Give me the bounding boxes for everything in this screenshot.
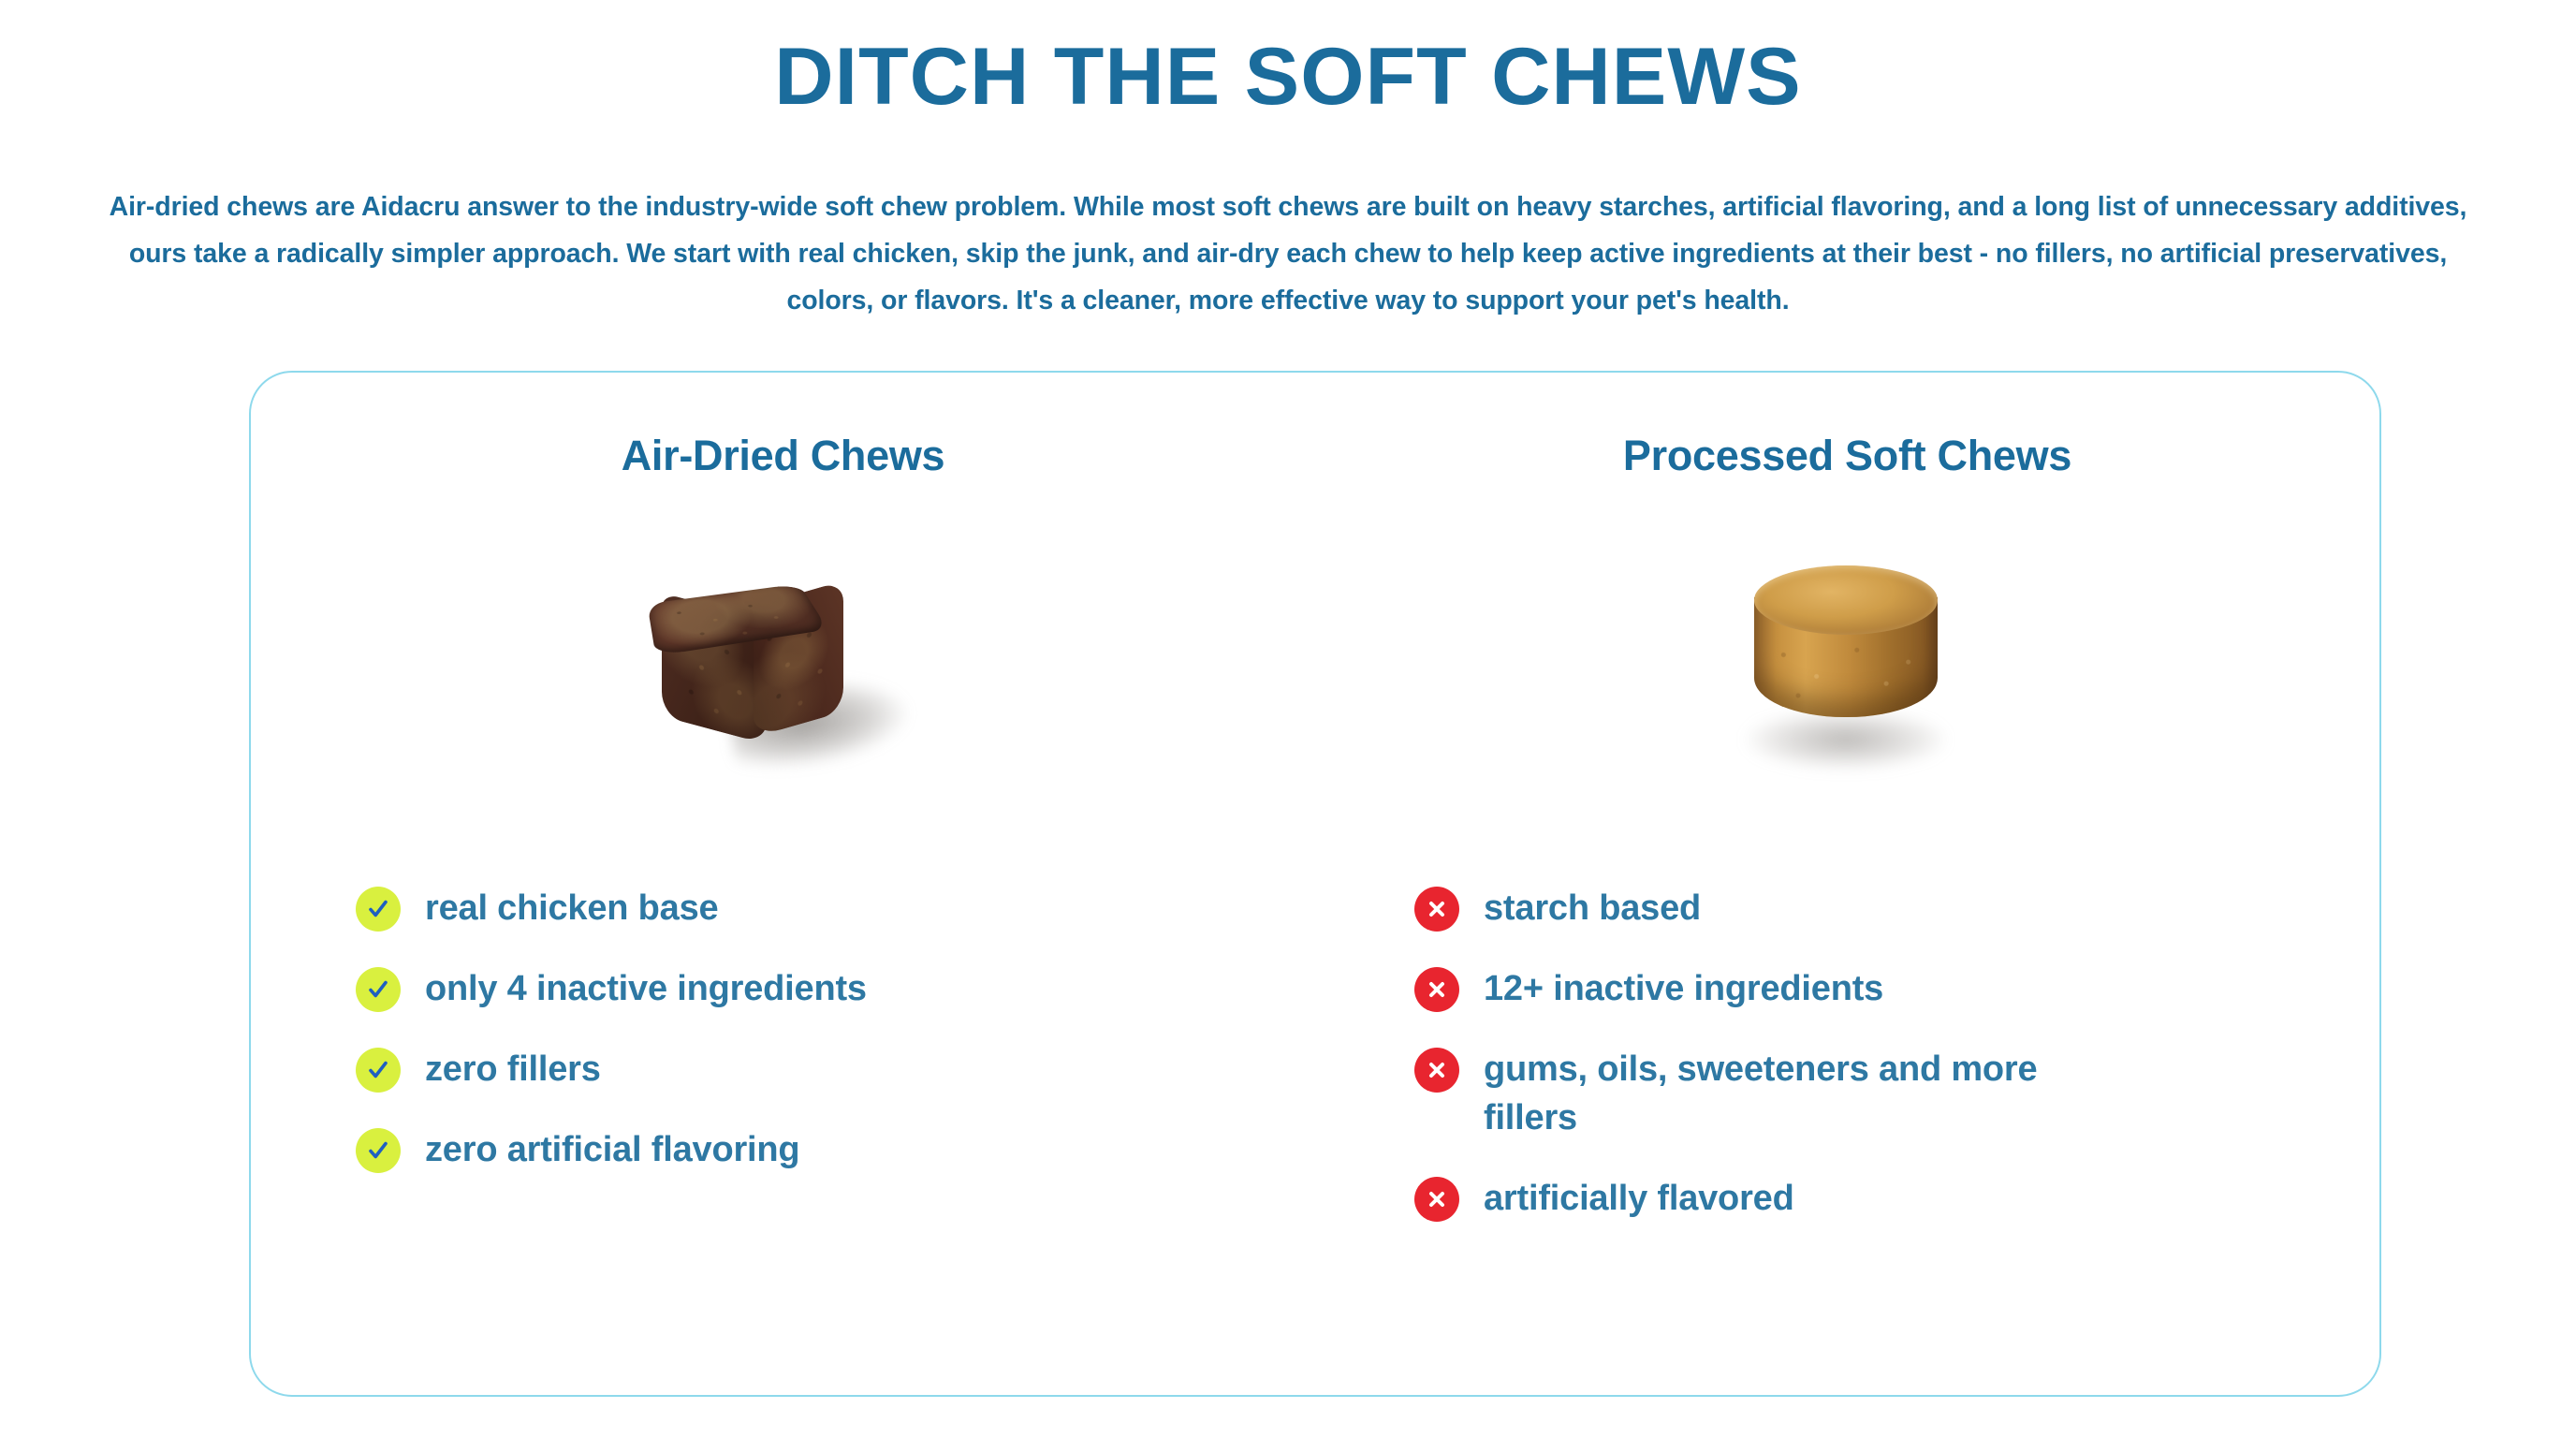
cross-circle-icon <box>1414 1177 1459 1222</box>
cross-circle-icon <box>1414 1048 1459 1093</box>
list-item: zero artificial flavoring <box>356 1125 1217 1174</box>
check-circle-icon <box>356 1048 401 1093</box>
feature-label: zero artificial flavoring <box>425 1125 799 1174</box>
list-item: zero fillers <box>356 1045 1217 1093</box>
check-circle-icon <box>356 887 401 932</box>
list-item: real chicken base <box>356 884 1217 932</box>
cube-body <box>649 549 850 745</box>
feature-list-air-dried: real chicken base only 4 inactive ingred… <box>356 884 1217 1174</box>
processed-soft-chew-puck-icon <box>1707 545 1988 826</box>
product-image-air-dried-chew <box>251 532 1315 841</box>
feature-label: gums, oils, sweeteners and more fillers <box>1484 1045 2120 1142</box>
comparison-columns: Air-Dried Chews <box>251 373 2379 1395</box>
feature-label: starch based <box>1484 884 1701 932</box>
page-title: DITCH THE SOFT CHEWS <box>0 32 2576 122</box>
check-circle-icon <box>356 1128 401 1173</box>
list-item: 12+ inactive ingredients <box>1414 964 2276 1013</box>
feature-label: only 4 inactive ingredients <box>425 964 867 1013</box>
intro-paragraph: Air-dried chews are Aidacru answer to th… <box>90 183 2486 324</box>
list-item: starch based <box>1414 884 2276 932</box>
list-item: artificially flavored <box>1414 1174 2276 1223</box>
cross-circle-icon <box>1414 967 1459 1012</box>
comparison-card: Air-Dried Chews <box>249 371 2381 1397</box>
feature-label: 12+ inactive ingredients <box>1484 964 1883 1013</box>
product-image-processed-soft-chew <box>1315 532 2379 841</box>
puck-top-face <box>1754 565 1938 635</box>
check-circle-icon <box>356 967 401 1012</box>
cross-circle-icon <box>1414 887 1459 932</box>
list-item: only 4 inactive ingredients <box>356 964 1217 1013</box>
feature-label: zero fillers <box>425 1045 601 1093</box>
feature-label: real chicken base <box>425 884 718 932</box>
column-title-processed: Processed Soft Chews <box>1315 431 2379 481</box>
air-dried-chew-cube-icon <box>621 539 901 820</box>
feature-label: artificially flavored <box>1484 1174 1794 1223</box>
column-processed-soft-chews: Processed Soft Chews <box>1315 373 2379 1395</box>
list-item: gums, oils, sweeteners and more fillers <box>1414 1045 2276 1142</box>
column-air-dried-chews: Air-Dried Chews <box>251 373 1315 1395</box>
promo-page: DITCH THE SOFT CHEWS Air-dried chews are… <box>0 0 2576 1438</box>
column-title-air-dried: Air-Dried Chews <box>251 431 1315 481</box>
puck-body-group <box>1754 565 1938 730</box>
feature-list-processed: starch based 12+ inactive ingredients <box>1414 884 2276 1223</box>
